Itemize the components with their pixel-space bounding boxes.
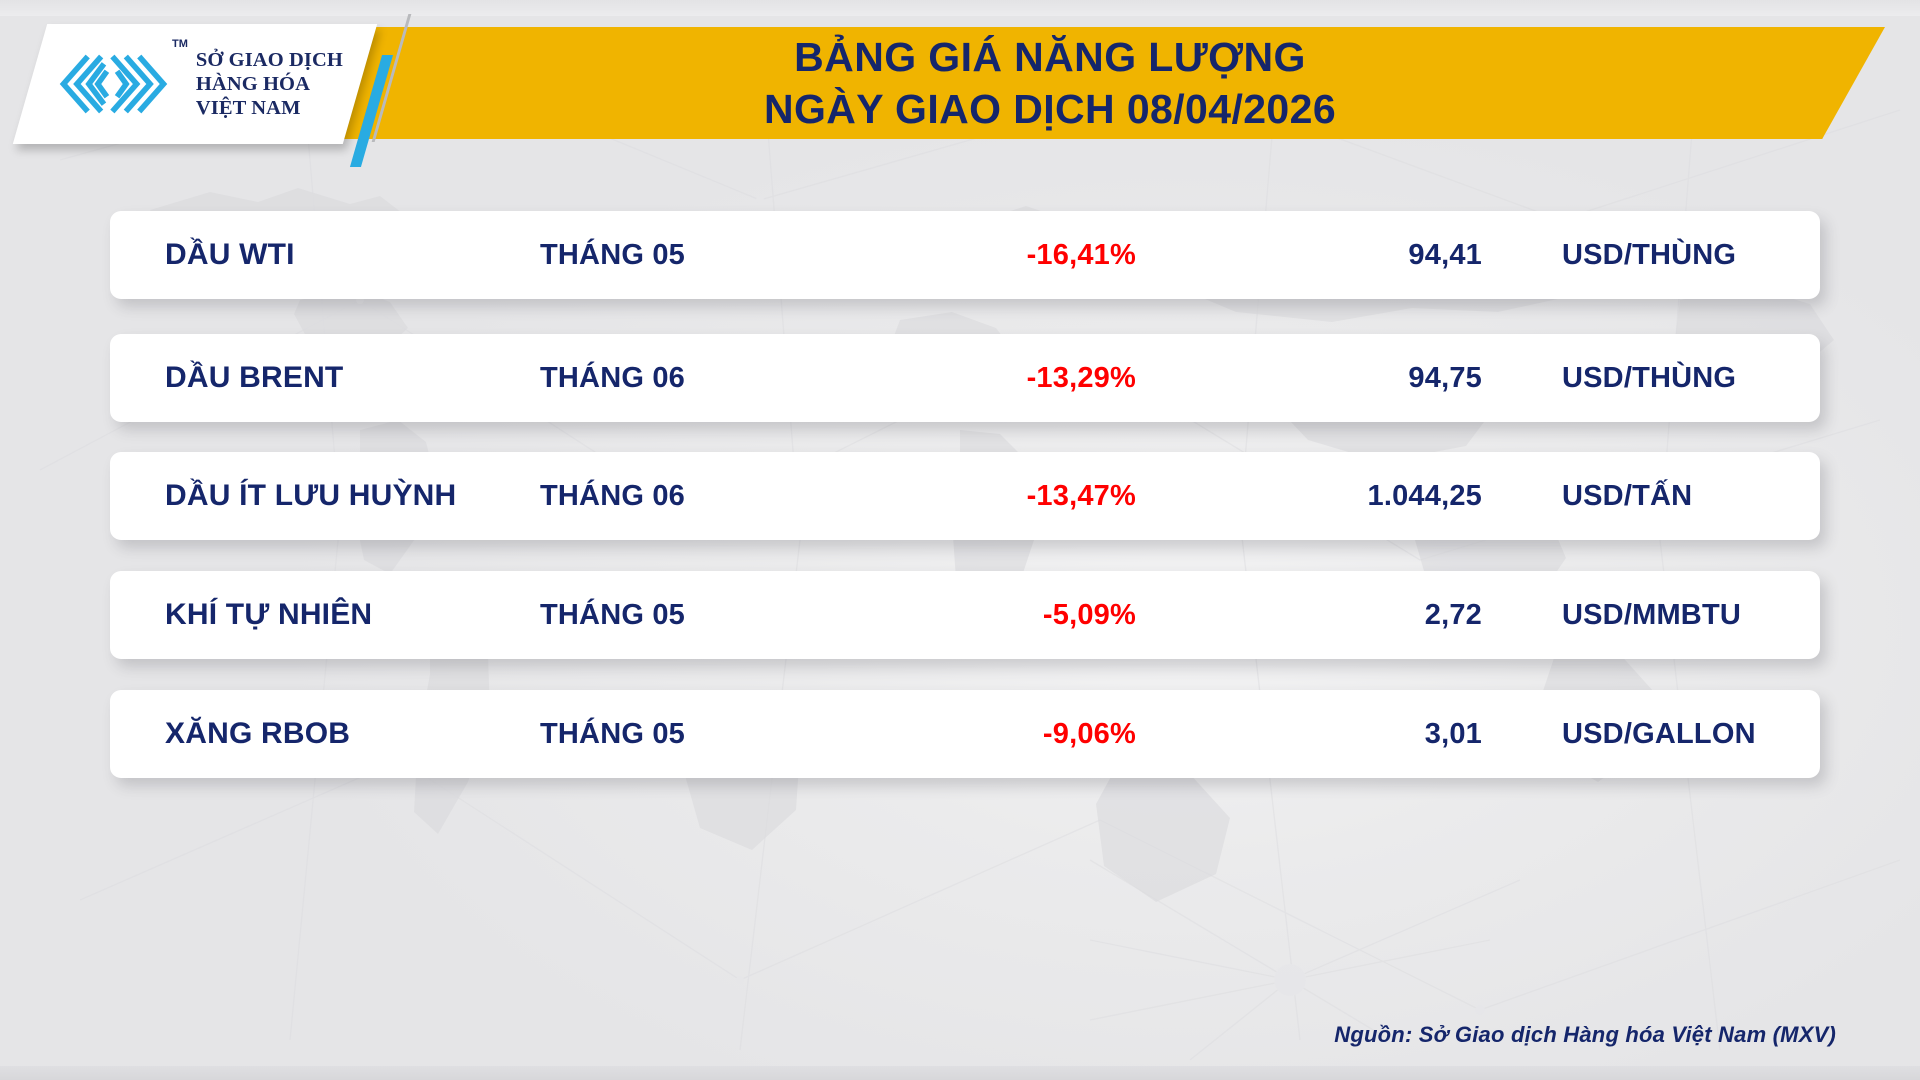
row-price: 94,75	[1180, 362, 1510, 395]
row-commodity-name: DẦU BRENT	[110, 361, 540, 395]
row-commodity-name: KHÍ TỰ NHIÊN	[110, 598, 540, 632]
row-price: 3,01	[1180, 718, 1510, 751]
page-title: BẢNG GIÁ NĂNG LƯỢNG NGÀY GIAO DỊCH 08/04…	[470, 32, 1630, 135]
row-change-percent: -9,06%	[830, 718, 1180, 751]
row-change-percent: -16,41%	[830, 239, 1180, 272]
table-row[interactable]: DẦU WTITHÁNG 05-16,41%94,41USD/THÙNG	[110, 211, 1820, 299]
title-line-2: NGÀY GIAO DỊCH 08/04/2026	[470, 84, 1630, 136]
mxv-logo-icon	[56, 51, 168, 117]
row-contract-month: THÁNG 05	[540, 718, 830, 751]
price-table: DẦU WTITHÁNG 05-16,41%94,41USD/THÙNGDẦU …	[0, 0, 1920, 1080]
row-commodity-name: XĂNG RBOB	[110, 717, 540, 751]
row-contract-month: THÁNG 05	[540, 599, 830, 632]
row-contract-month: THÁNG 06	[540, 362, 830, 395]
logo-line-3: VIỆT NAM	[196, 96, 343, 120]
row-unit: USD/GALLON	[1510, 718, 1820, 751]
row-commodity-name: DẦU ÍT LƯU HUỲNH	[110, 479, 540, 513]
row-price: 2,72	[1180, 599, 1510, 632]
row-price: 1.044,25	[1180, 480, 1510, 513]
logo-line-2: HÀNG HÓA	[196, 72, 343, 96]
row-change-percent: -13,47%	[830, 480, 1180, 513]
table-row[interactable]: XĂNG RBOBTHÁNG 05-9,06%3,01USD/GALLON	[110, 690, 1820, 778]
table-row[interactable]: DẦU BRENTTHÁNG 06-13,29%94,75USD/THÙNG	[110, 334, 1820, 422]
table-row[interactable]: KHÍ TỰ NHIÊNTHÁNG 05-5,09%2,72USD/MMBTU	[110, 571, 1820, 659]
row-contract-month: THÁNG 05	[540, 239, 830, 272]
page-header: TM SỞ GIAO DỊCH HÀNG HÓA VIỆT NAM BẢNG G…	[0, 0, 1920, 150]
row-change-percent: -5,09%	[830, 599, 1180, 632]
title-line-1: BẢNG GIÁ NĂNG LƯỢNG	[794, 34, 1306, 80]
row-change-percent: -13,29%	[830, 362, 1180, 395]
row-unit: USD/THÙNG	[1510, 239, 1820, 272]
trademark-symbol: TM	[172, 38, 188, 50]
logo-card: TM SỞ GIAO DỊCH HÀNG HÓA VIỆT NAM	[13, 24, 377, 144]
table-row[interactable]: DẦU ÍT LƯU HUỲNHTHÁNG 06-13,47%1.044,25U…	[110, 452, 1820, 540]
row-price: 94,41	[1180, 239, 1510, 272]
row-unit: USD/THÙNG	[1510, 362, 1820, 395]
logo-line-1: SỞ GIAO DỊCH	[196, 48, 343, 72]
row-commodity-name: DẦU WTI	[110, 238, 540, 272]
row-unit: USD/TẤN	[1510, 480, 1820, 513]
row-contract-month: THÁNG 06	[540, 480, 830, 513]
row-unit: USD/MMBTU	[1510, 599, 1820, 632]
source-note: Nguồn: Sở Giao dịch Hàng hóa Việt Nam (M…	[1334, 1022, 1836, 1048]
logo-wordmark: SỞ GIAO DỊCH HÀNG HÓA VIỆT NAM	[196, 48, 343, 121]
